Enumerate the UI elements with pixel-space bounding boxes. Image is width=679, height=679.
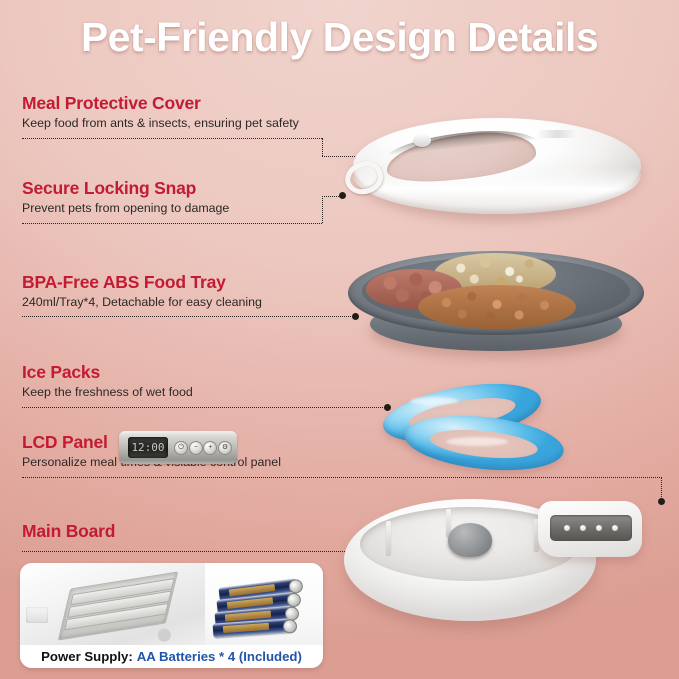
lid-opening-tab: [413, 134, 431, 147]
power-supply-label: Power Supply:: [41, 649, 133, 664]
base-panel-button-4[interactable]: [612, 525, 618, 531]
feature-subtitle-secure-locking-snap: Prevent pets from opening to damage: [22, 201, 229, 216]
lcd-display-readout: 12:00: [128, 437, 168, 458]
product-image-ice-packs: [376, 385, 636, 485]
feature-heading-ice-packs: Ice Packs: [22, 362, 193, 382]
feature-block-meal-protective-cover: Meal Protective Cover Keep food from ant…: [22, 93, 299, 131]
leader-dot-lcd-panel: [658, 498, 665, 505]
base-control-panel-face: [550, 515, 632, 541]
secure-locking-snap-clip: [341, 160, 375, 188]
ice-frost-highlight-1: [410, 397, 458, 405]
battery-compartment-well: [58, 571, 178, 640]
ice-frost-highlight-2: [446, 437, 508, 446]
power-supply-caption: Power Supply: AA Batteries * 4 (Included…: [20, 645, 323, 668]
battery-door-latch: [26, 607, 48, 623]
product-image-main-board: [338, 495, 654, 643]
base-panel-button-2[interactable]: [580, 525, 586, 531]
aa-batteries-photo: [205, 563, 323, 645]
feature-block-main-board: Main Board: [22, 521, 115, 541]
tray-compartment-dry-kibble: [418, 285, 576, 329]
leader-line-secure-locking-snap-v: [322, 196, 323, 223]
leader-line-meal-protective-cover-v: [322, 138, 323, 156]
lcd-button-row: ⏻ − + ⚙: [174, 437, 232, 458]
feature-heading-main-board: Main Board: [22, 521, 115, 541]
product-image-food-tray: [348, 245, 648, 357]
feature-subtitle-bpa-free-abs-food-tray: 240ml/Tray*4, Detachable for easy cleani…: [22, 295, 262, 310]
infographic-page: Pet-Friendly Design Details Meal Protect…: [0, 0, 679, 679]
feature-heading-bpa-free-abs-food-tray: BPA-Free ABS Food Tray: [22, 272, 262, 292]
product-image-meal-protective-cover: [341, 112, 653, 222]
feature-block-ice-packs: Ice Packs Keep the freshness of wet food: [22, 362, 193, 400]
aa-battery-label-4: [223, 623, 269, 633]
power-supply-value: AA Batteries * 4 (Included): [137, 649, 302, 664]
battery-compartment-photo: [20, 563, 205, 645]
feature-heading-meal-protective-cover: Meal Protective Cover: [22, 93, 299, 113]
leader-line-meal-protective-cover-h1: [22, 138, 322, 139]
base-divider-fin-left: [386, 521, 391, 555]
lcd-panel-photo: 12:00 ⏻ − + ⚙: [119, 431, 237, 464]
lid-brand-logo: [537, 130, 577, 138]
lcd-minus-icon[interactable]: −: [189, 441, 203, 455]
feature-subtitle-meal-protective-cover: Keep food from ants & insects, ensuring …: [22, 116, 299, 131]
feature-block-secure-locking-snap: Secure Locking Snap Prevent pets from op…: [22, 178, 229, 216]
base-center-dome: [448, 523, 492, 557]
base-panel-button-3[interactable]: [596, 525, 602, 531]
feature-heading-secure-locking-snap: Secure Locking Snap: [22, 178, 229, 198]
leader-line-bpa-free-abs-food-tray: [22, 316, 355, 317]
leader-line-secure-locking-snap-h1: [22, 223, 322, 224]
page-title: Pet-Friendly Design Details: [0, 14, 679, 61]
base-panel-button-1[interactable]: [564, 525, 570, 531]
lcd-settings-gear-icon[interactable]: ⚙: [218, 441, 232, 455]
feature-subtitle-ice-packs: Keep the freshness of wet food: [22, 385, 193, 400]
power-supply-card: Power Supply: AA Batteries * 4 (Included…: [20, 563, 323, 668]
leader-line-ice-packs: [22, 407, 387, 408]
feature-block-bpa-free-abs-food-tray: BPA-Free ABS Food Tray 240ml/Tray*4, Det…: [22, 272, 262, 310]
lcd-plus-icon[interactable]: +: [203, 441, 217, 455]
lcd-power-icon[interactable]: ⏻: [174, 441, 188, 455]
